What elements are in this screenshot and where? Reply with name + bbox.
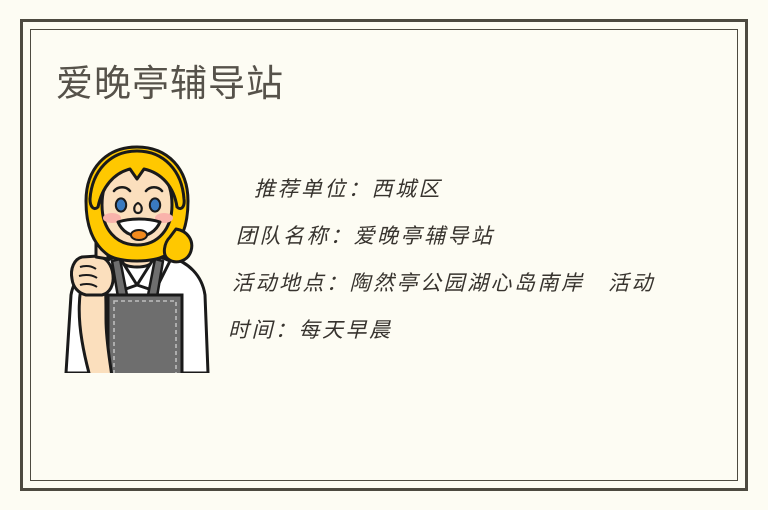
info-line-team-name: 团队名称：爱晚亭辅导站: [228, 213, 658, 260]
cartoon-woman-pointing-up-icon: [60, 145, 212, 373]
illustration-cartoon-woman: [60, 145, 212, 373]
info-line-location-and-time: 活动地点：陶然亭公园湖心岛南岸 活动时间：每天早晨: [228, 260, 658, 354]
info-line-recommending-unit: 推荐单位：西城区: [228, 166, 658, 213]
page-title: 爱晚亭辅导站: [56, 63, 284, 106]
info-block: 推荐单位：西城区 团队名称：爱晚亭辅导站 活动地点：陶然亭公园湖心岛南岸 活动时…: [228, 166, 658, 354]
poster-canvas: 爱晚亭辅导站: [0, 0, 768, 510]
